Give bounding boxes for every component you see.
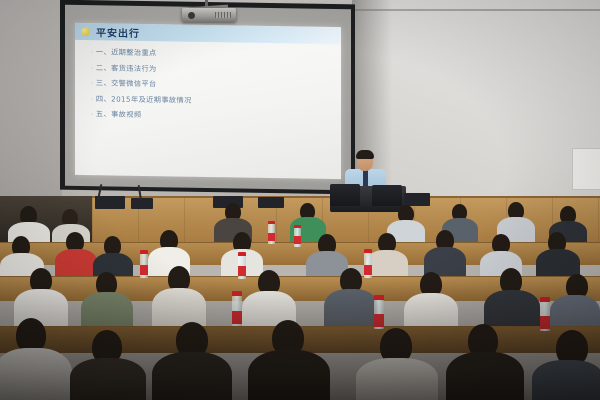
bottle-cap — [540, 297, 550, 302]
screen-surface: 平安出行 · 一、近期整治重点 · 二、客货违法行为 · 三、交警微信平台 — [65, 5, 351, 190]
bottle-cap — [374, 295, 384, 300]
bottle-label — [140, 265, 148, 275]
bottle-cap — [238, 252, 246, 256]
presentation-slide: 平安出行 · 一、近期整治重点 · 二、客货违法行为 · 三、交警微信平台 — [75, 23, 341, 179]
audience-body — [324, 289, 378, 329]
bottle-label — [268, 233, 275, 241]
audience-body — [484, 290, 540, 330]
bottle-label — [364, 265, 372, 275]
water-bottle — [294, 228, 301, 247]
sun-icon — [81, 27, 90, 36]
presenter-hair — [356, 150, 374, 159]
water-bottle — [232, 296, 242, 326]
audience-body — [356, 358, 438, 400]
bottle-label — [540, 316, 550, 329]
slide-item-label: 二、客货违法行为 — [96, 63, 157, 74]
audience-body — [248, 350, 330, 400]
equipment-box — [404, 193, 430, 206]
bullet-marker: · — [91, 97, 93, 103]
projector-icon — [182, 8, 236, 22]
ceiling-seam — [352, 9, 600, 11]
audience-body — [70, 358, 146, 400]
water-bottle — [268, 224, 275, 244]
whiteboard — [572, 148, 600, 190]
slide-item-label: 五、事故视频 — [96, 109, 142, 120]
projection-screen: 平安出行 · 一、近期整治重点 · 二、客货违法行为 · 三、交警微信平台 — [60, 0, 355, 194]
laptop[interactable] — [330, 184, 360, 206]
slide-list-item: · 二、客货违法行为 — [91, 63, 341, 77]
slide-list-item: · 三、交警微信平台 — [91, 78, 341, 92]
bullet-marker: · — [91, 112, 93, 118]
audience-body — [55, 249, 97, 278]
slide-item-label: 三、交警微信平台 — [96, 78, 157, 89]
audience-body — [0, 348, 72, 400]
slide-title: 平安出行 — [96, 24, 140, 40]
bottle-cap — [140, 250, 148, 254]
equipment-box — [258, 197, 284, 208]
bottle-label — [232, 311, 242, 324]
audience-body — [152, 288, 206, 328]
audience-body — [532, 360, 600, 400]
water-bottle — [540, 302, 550, 331]
slide-list-item: · 一、近期整治重点 — [91, 47, 341, 61]
laptop[interactable] — [372, 185, 402, 206]
water-bottle — [364, 253, 372, 278]
slide-item-label: 四、2015年及近期事故情况 — [96, 94, 192, 106]
bottle-cap — [268, 221, 275, 224]
bottle-cap — [294, 225, 301, 228]
audience-body — [81, 292, 133, 330]
bullet-marker: · — [91, 66, 93, 72]
water-bottle — [374, 300, 384, 329]
bottle-label — [294, 236, 301, 244]
projector-lens — [188, 12, 195, 19]
lecture-hall-photo: 平安出行 · 一、近期整治重点 · 二、客货违法行为 · 三、交警微信平台 — [0, 0, 600, 400]
audience-body — [152, 352, 232, 400]
left-wall — [0, 0, 62, 215]
slide-body: · 一、近期整治重点 · 二、客货违法行为 · 三、交警微信平台 · 四、201… — [75, 40, 341, 123]
water-bottle — [238, 256, 246, 279]
equipment-box — [95, 196, 125, 209]
bottle-cap — [232, 291, 242, 296]
bullet-marker: · — [91, 81, 93, 87]
slide-list-item: · 五、事故视频 — [91, 109, 341, 123]
audience-body — [446, 352, 524, 400]
water-bottle — [140, 254, 148, 278]
bottle-cap — [364, 249, 372, 253]
bottle-label — [238, 266, 246, 276]
bottle-label — [374, 314, 384, 327]
projector-vent — [215, 12, 231, 18]
bullet-marker: · — [91, 50, 93, 56]
slide-item-label: 一、近期整治重点 — [96, 47, 157, 58]
slide-list-item: · 四、2015年及近期事故情况 — [91, 94, 341, 108]
